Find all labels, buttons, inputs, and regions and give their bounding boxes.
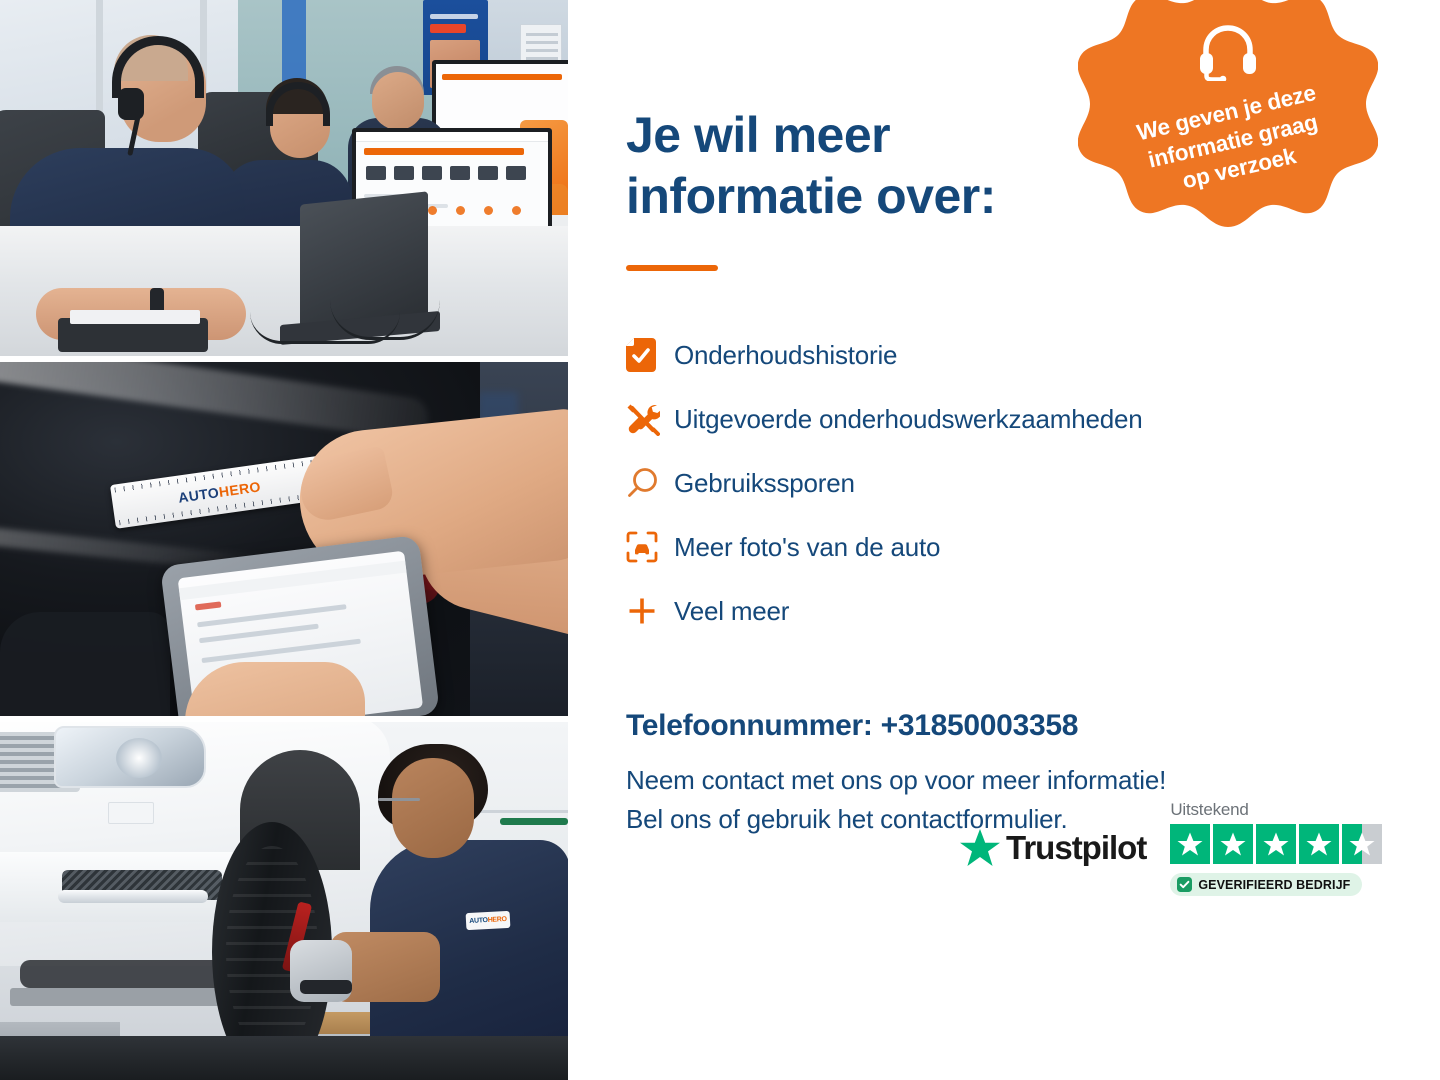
document-check-icon <box>626 338 674 372</box>
plus-icon <box>626 595 674 627</box>
photo2-reflection-person <box>0 612 170 716</box>
photo3-logo-text: AUTOHERO <box>466 911 511 930</box>
feature-label: Gebruikssporen <box>674 468 855 499</box>
phone-number-line: Telefoonnummer: +31850003358 <box>626 709 1440 743</box>
feature-item-maintenance-work: Uitgevoerde onderhoudswerkzaamheden <box>626 387 1440 451</box>
page-title: Je wil meer informatie over: <box>626 105 1146 227</box>
contact-paragraph-line-1: Neem contact met ons op voor meer inform… <box>626 765 1166 795</box>
feature-item-maintenance-history: Onderhoudshistorie <box>626 323 1440 387</box>
tools-icon <box>626 402 674 436</box>
car-inspection-ruler-photo: AUTOHERO <box>0 362 568 716</box>
star-filled <box>1170 824 1210 864</box>
photo1-agent-3-head <box>372 72 424 130</box>
star-filled <box>1256 824 1296 864</box>
trustpilot-rating-label: Uitstekend <box>1170 800 1382 820</box>
photo3-license-plate-area <box>108 802 154 824</box>
photo-column: AUTOHERO AUTOHERO <box>0 0 568 1080</box>
promo-page: AUTOHERO AUTOHERO <box>0 0 1440 1080</box>
feature-label: Veel meer <box>674 596 789 627</box>
star-filled <box>1299 824 1339 864</box>
verified-shield-icon <box>1177 877 1192 892</box>
photo3-chrome-trim <box>58 890 208 903</box>
trustpilot-logo: Trustpilot <box>960 829 1146 867</box>
trustpilot-wordmark: Trustpilot <box>1006 829 1146 867</box>
photo3-mechanic-head <box>392 758 474 858</box>
trustpilot-widget[interactable]: Trustpilot Uitstekend <box>960 800 1382 896</box>
photo3-glove-cuff <box>300 980 352 994</box>
call-center-agents-photo: AUTOHERO <box>0 0 568 356</box>
photo3-headlight <box>54 726 206 788</box>
request-info-badge: We geven je deze informatie graag op ver… <box>1078 0 1378 265</box>
star-filled <box>1213 824 1253 864</box>
photo3-glasses <box>378 798 420 801</box>
page-title-line-2: informatie over: <box>626 168 996 224</box>
car-scan-icon <box>626 531 674 563</box>
feature-item-more-photos: Meer foto's van de auto <box>626 515 1440 579</box>
feature-label: Uitgevoerde onderhoudswerkzaamheden <box>674 404 1143 435</box>
photo3-green-hose <box>500 818 568 825</box>
content-panel: Je wil meer informatie over: We geven je… <box>568 0 1440 1080</box>
trustpilot-star-icon <box>960 829 1000 867</box>
trustpilot-stars <box>1170 824 1382 864</box>
page-title-line-1: Je wil meer <box>626 107 890 163</box>
photo3-floor <box>0 1036 568 1080</box>
feature-list: Onderhoudshistorie Uitgevoerde onderhoud… <box>626 323 1440 643</box>
feature-item-wear-signs: Gebruikssporen <box>626 451 1440 515</box>
verified-company-badge: GEVERIFIEERD BEDRIJF <box>1170 873 1362 896</box>
feature-item-much-more: Veel meer <box>626 579 1440 643</box>
mechanic-wheel-photo: AUTOHERO <box>0 722 568 1080</box>
trustpilot-rating-block: Uitstekend <box>1170 800 1382 896</box>
feature-label: Meer foto's van de auto <box>674 532 940 563</box>
star-half <box>1342 824 1382 864</box>
photo3-autohero-logo-badge: AUTOHERO <box>466 911 511 930</box>
photo1-papers <box>70 310 200 324</box>
verified-company-label: GEVERIFIEERD BEDRIJF <box>1198 878 1350 892</box>
title-underline-accent <box>626 265 718 271</box>
feature-label: Onderhoudshistorie <box>674 340 897 371</box>
magnifier-icon <box>626 467 674 499</box>
